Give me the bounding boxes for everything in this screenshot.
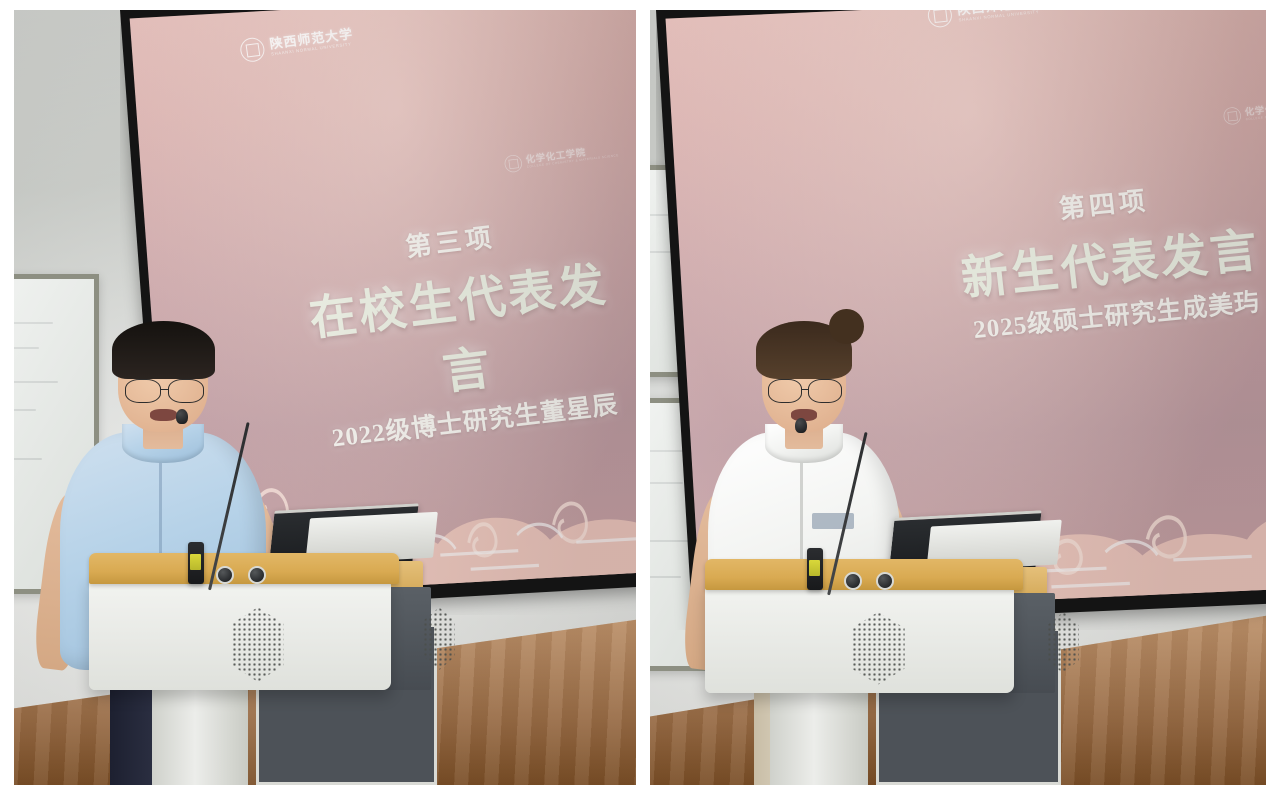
university-name-cn: 陕西师范大学: [956, 10, 1041, 17]
university-seal-icon: [239, 37, 266, 64]
college-seal-icon: [504, 154, 524, 173]
college-name-en: COLLEGE OF CHEMISTRY & MATERIALS SCIENCE: [1246, 109, 1266, 122]
handheld-transmitter[interactable]: [188, 542, 204, 584]
glasses-icon: [125, 379, 203, 401]
chemistry-college-logo: 化学化工学院 COLLEGE OF CHEMISTRY & MATERIALS …: [1223, 97, 1266, 126]
speaker-hair: [756, 321, 852, 378]
lectern-knob: [844, 572, 862, 590]
microphone-head-icon: [176, 409, 188, 424]
lectern-wood-top: [705, 559, 1022, 590]
microphone-head-icon: [795, 418, 807, 433]
slide-eyebrow: 第四项: [922, 167, 1266, 239]
glasses-icon: [768, 379, 841, 401]
slide-text-block: 第四项 新生代表发言 2025级硕士研究生成美玙: [922, 167, 1266, 349]
slide-eyebrow: 第三项: [291, 204, 608, 278]
lectern-wood-top: [89, 553, 400, 585]
university-name-en: SHAANXI NORMAL UNIVERSITY: [958, 10, 1042, 23]
college-name-cn: 化学化工学院: [1245, 98, 1266, 117]
handheld-transmitter[interactable]: [807, 548, 823, 590]
speaker-hair: [112, 321, 215, 378]
slide-text-block: 第三项 在校生代表发言 2022级博士研究生董星辰: [291, 204, 632, 456]
photo-collage: 陕西师范大学 SHAANXI NORMAL UNIVERSITY 化学化工学院 …: [0, 0, 1280, 800]
multimedia-lectern: [89, 498, 487, 785]
college-seal-icon: [1223, 107, 1242, 126]
speaker-mouth: [150, 409, 177, 420]
slide-title: 新生代表发言: [927, 208, 1266, 312]
university-name-cn: 陕西师范大学: [269, 28, 354, 51]
photo-panel-left: 陕西师范大学 SHAANXI NORMAL UNIVERSITY 化学化工学院 …: [14, 10, 636, 785]
shaanxi-normal-university-logo: 陕西师范大学 SHAANXI NORMAL UNIVERSITY: [926, 10, 1042, 29]
college-name-cn: 化学化工学院: [525, 144, 618, 165]
multimedia-lectern: [705, 506, 1112, 785]
shaanxi-normal-university-logo: 陕西师范大学 SHAANXI NORMAL UNIVERSITY: [239, 25, 355, 63]
slide-subtitle: 2022级博士研究生董星辰: [316, 383, 633, 456]
university-seal-icon: [926, 10, 953, 29]
university-name-en: SHAANXI NORMAL UNIVERSITY: [271, 43, 355, 58]
lectern-knob: [248, 566, 266, 584]
slide-subtitle: 2025级硕士研究生成美玙: [935, 279, 1266, 350]
slide-title: 在校生代表发言: [297, 244, 627, 418]
photo-panel-right: 陕西师范大学 SHAANXI NORMAL UNIVERSITY 化学化工学院 …: [650, 10, 1266, 785]
lectern-knob: [876, 572, 894, 590]
chemistry-college-logo: 化学化工学院 COLLEGE OF CHEMISTRY & MATERIALS …: [504, 142, 620, 173]
college-name-en: COLLEGE OF CHEMISTRY & MATERIALS SCIENCE: [527, 154, 619, 169]
